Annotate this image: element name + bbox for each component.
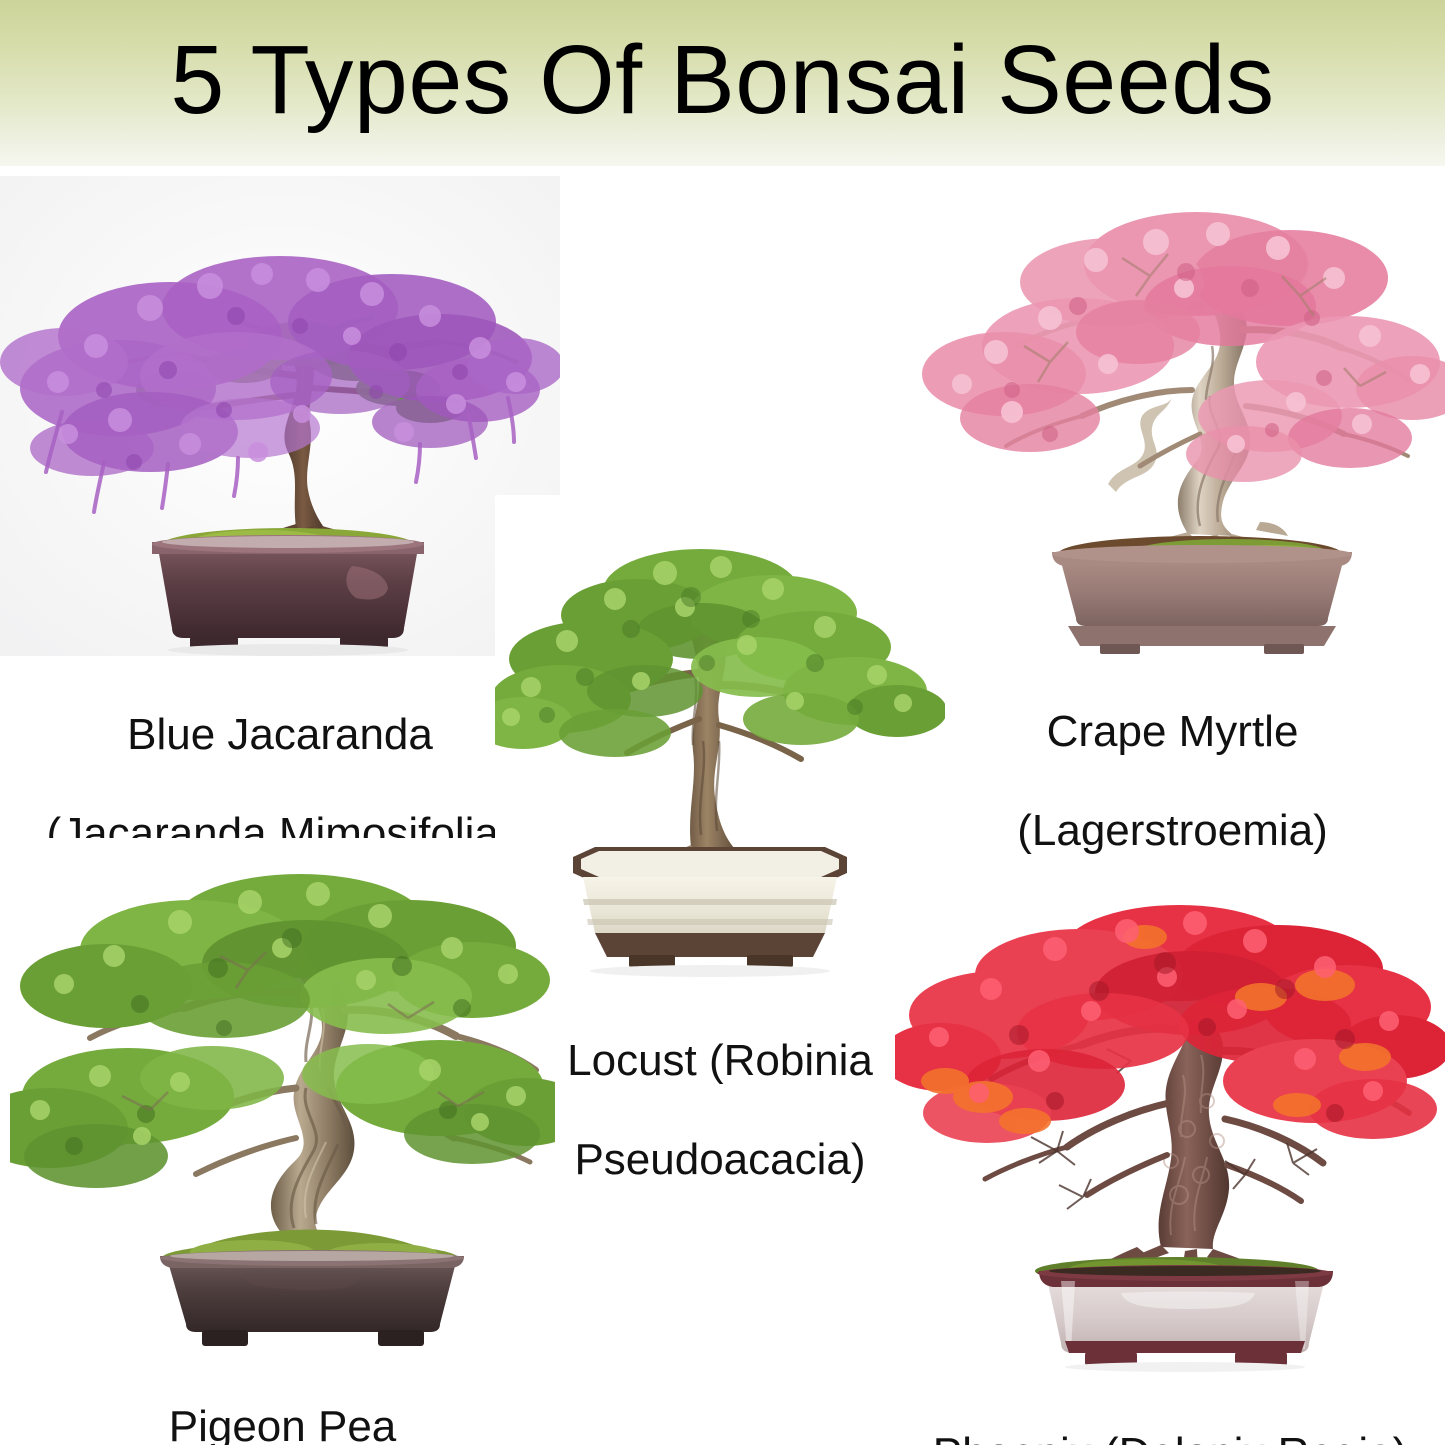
- caption-line-1: Locust (Robinia: [495, 1036, 945, 1085]
- caption-phoenix: Phoenix (Delonix Regia): [895, 1380, 1445, 1445]
- caption-pigeon-pea: Pigeon Pea (Cajanus Cajan. Druce): [10, 1353, 555, 1445]
- caption-line-1: Phoenix (Delonix Regia): [895, 1429, 1445, 1445]
- caption-line-2: Pseudoacacia): [495, 1135, 945, 1184]
- infographic-page: 5 Types Of Bonsai Seeds: [0, 0, 1445, 1445]
- caption-line-1: Crape Myrtle: [900, 707, 1445, 756]
- caption-line-2: (Lagerstroemia): [900, 806, 1445, 855]
- caption-locust: Locust (Robinia Pseudoacacia): [495, 987, 945, 1233]
- bonsai-image-crape-myrtle: [900, 166, 1445, 656]
- page-title: 5 Types Of Bonsai Seeds: [170, 31, 1274, 128]
- bonsai-image-phoenix: [895, 875, 1445, 1375]
- bonsai-image-jacaranda: [0, 176, 560, 656]
- bonsai-image-pigeon-pea: [10, 838, 555, 1348]
- header-banner: 5 Types Of Bonsai Seeds: [0, 0, 1445, 166]
- caption-line-1: Pigeon Pea: [10, 1402, 555, 1445]
- caption-crape-myrtle: Crape Myrtle (Lagerstroemia): [900, 658, 1445, 904]
- caption-line-1: Blue Jacaranda: [0, 710, 560, 759]
- bonsai-image-locust: [495, 495, 945, 985]
